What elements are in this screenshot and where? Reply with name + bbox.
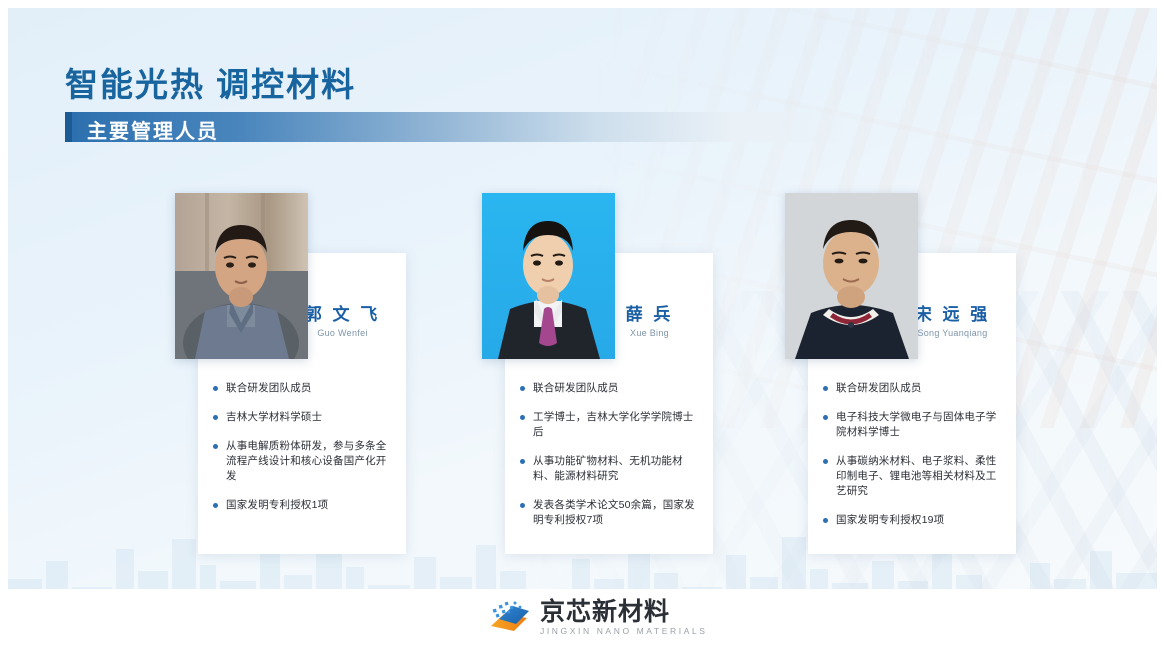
member-photo-3 (785, 193, 918, 359)
list-item: 从事电解质粉体研发，参与多条全流程产线设计和核心设备国产化开发 (212, 439, 394, 484)
list-item: 从事功能矿物材料、无机功能材料、能源材料研究 (519, 454, 701, 484)
list-item: 电子科技大学微电子与固体电子学院材料学博士 (822, 410, 1004, 440)
list-item: 国家发明专利授权1项 (212, 498, 394, 513)
list-item: 吉林大学材料学硕士 (212, 410, 394, 425)
list-item: 发表各类学术论文50余篇，国家发明专利授权7项 (519, 498, 701, 528)
logo-name-cn: 京芯新材料 (540, 599, 708, 625)
section-header-accent (65, 112, 72, 142)
member-bullets-1: 联合研发团队成员 吉林大学材料学硕士 从事电解质粉体研发，参与多条全流程产线设计… (212, 381, 394, 527)
slide-canvas: 智能光热 调控材料 主要管理人员 郭 文 飞 Guo Wenfei 联合研发团队… (8, 8, 1157, 651)
member-bullets-2: 联合研发团队成员 工学博士，吉林大学化学学院博士后 从事功能矿物材料、无机功能材… (519, 381, 701, 542)
jingxin-logo-icon (487, 600, 531, 636)
section-header-label: 主要管理人员 (87, 115, 219, 144)
list-item: 工学博士，吉林大学化学学院博士后 (519, 410, 701, 440)
company-logo: 京芯新材料 JINGXIN NANO MATERIALS (487, 599, 708, 637)
member-photo-2 (482, 193, 615, 359)
list-item: 联合研发团队成员 (212, 381, 394, 396)
list-item: 从事碳纳米材料、电子浆料、柔性印制电子、锂电池等相关材料及工艺研究 (822, 454, 1004, 499)
member-photo-1 (175, 193, 308, 359)
section-header-bar: 主要管理人员 (65, 112, 870, 142)
member-bullets-3: 联合研发团队成员 电子科技大学微电子与固体电子学院材料学博士 从事碳纳米材料、电… (822, 381, 1004, 542)
page-title: 智能光热 调控材料 (65, 58, 356, 106)
list-item: 联合研发团队成员 (822, 381, 1004, 396)
logo-name-en: JINGXIN NANO MATERIALS (540, 626, 708, 637)
list-item: 国家发明专利授权19项 (822, 513, 1004, 528)
list-item: 联合研发团队成员 (519, 381, 701, 396)
logo-text-block: 京芯新材料 JINGXIN NANO MATERIALS (540, 599, 708, 637)
